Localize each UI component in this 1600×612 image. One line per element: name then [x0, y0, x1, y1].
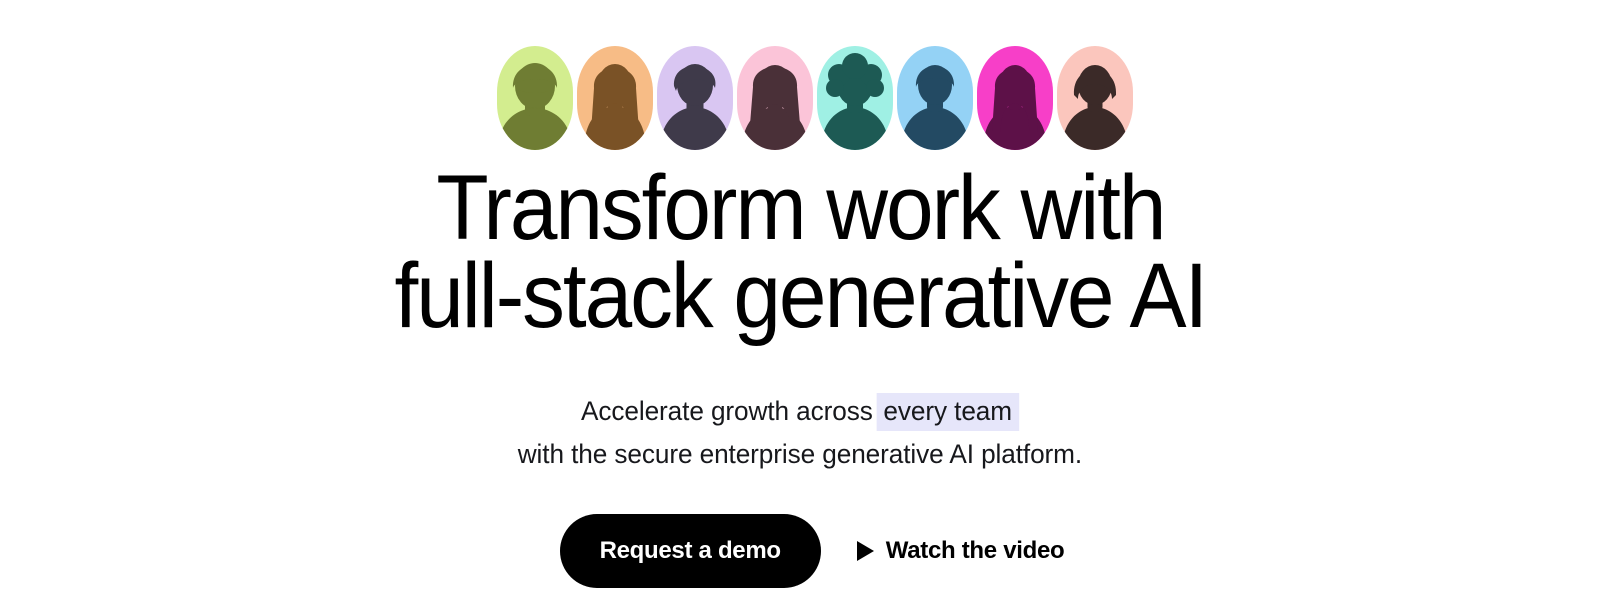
avatar-2	[577, 46, 653, 150]
avatar-6	[897, 46, 973, 150]
avatar-4	[737, 46, 813, 150]
subheading-prefix: Accelerate growth across	[581, 396, 873, 426]
person-portrait-icon	[497, 46, 573, 150]
hero-subheading: Accelerate growth acrossevery team with …	[518, 390, 1082, 476]
subheading-line-2: with the secure enterprise generative AI…	[518, 433, 1082, 476]
watch-video-link[interactable]: Watch the video	[857, 537, 1065, 565]
play-triangle-icon	[857, 541, 874, 561]
headline-line-2: full-stack generative AI	[394, 252, 1206, 340]
avatar-5	[817, 46, 893, 150]
person-portrait-icon	[577, 46, 653, 150]
hero-section: Transform work with full-stack generativ…	[0, 0, 1600, 612]
person-portrait-icon	[897, 46, 973, 150]
person-portrait-icon	[657, 46, 733, 150]
avatar-7	[977, 46, 1053, 150]
request-demo-button[interactable]: Request a demo	[560, 514, 821, 588]
avatar-1	[497, 46, 573, 150]
subheading-highlight: every team	[877, 393, 1019, 431]
person-portrait-icon	[737, 46, 813, 150]
subheading-line-1: Accelerate growth acrossevery team	[518, 390, 1082, 433]
avatar-8	[1057, 46, 1133, 150]
watch-video-label: Watch the video	[886, 537, 1065, 565]
person-portrait-icon	[977, 46, 1053, 150]
cta-row: Request a demo Watch the video	[560, 514, 1065, 588]
person-portrait-icon	[817, 46, 893, 150]
headline-line-1: Transform work with	[394, 164, 1206, 252]
avatar-strip	[497, 46, 1133, 150]
page-title: Transform work with full-stack generativ…	[394, 164, 1206, 340]
avatar-3	[657, 46, 733, 150]
person-portrait-icon	[1057, 46, 1133, 150]
